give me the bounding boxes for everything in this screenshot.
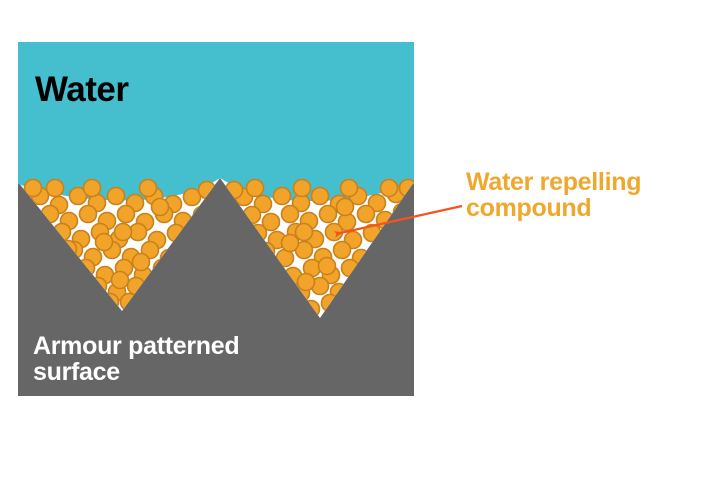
water-label: Water bbox=[35, 70, 129, 109]
surface-label-line2: surface bbox=[33, 358, 120, 386]
diagram-figure: Water Armour patterned surface Water rep… bbox=[0, 0, 720, 480]
compound-label-line1: Water repelling bbox=[466, 168, 641, 196]
surface-label-line1: Armour patterned bbox=[33, 332, 239, 360]
water-body bbox=[18, 42, 414, 201]
compound-label-line2: compound bbox=[466, 194, 591, 222]
surface-wetting-diagram: Water Armour patterned surface Water rep… bbox=[0, 0, 720, 480]
